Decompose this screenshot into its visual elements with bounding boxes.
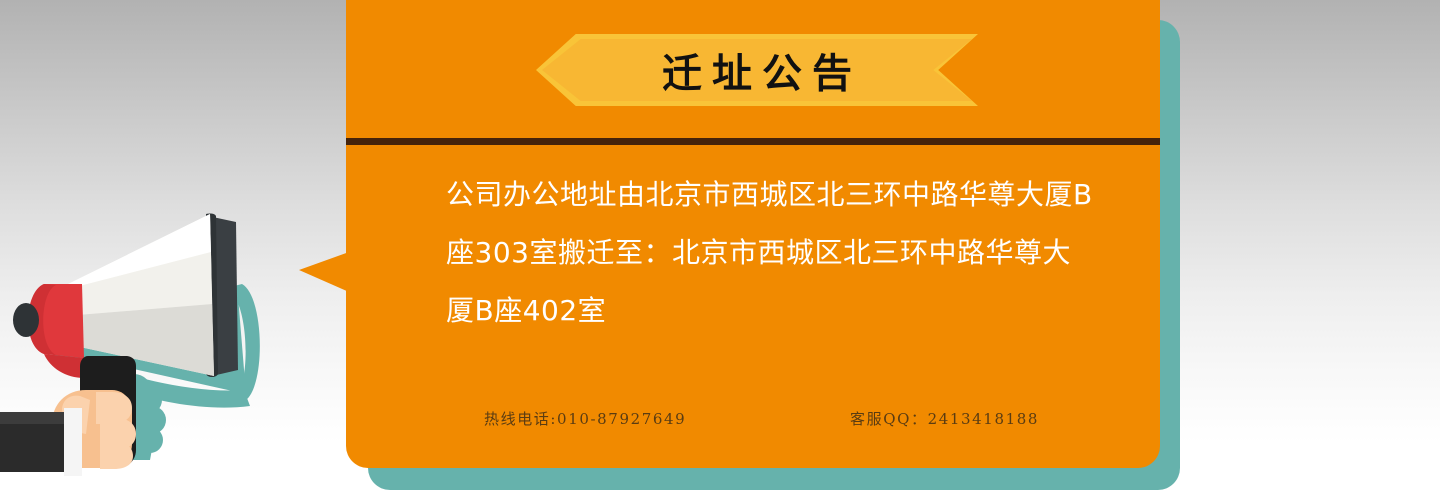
announcement-body: 公司办公地址由北京市西城区北三环中路华尊大厦B座303室搬迁至：北京市西城区北三… [446, 166, 1096, 340]
page-title: 迁址公告 [536, 34, 978, 106]
contact-footer: 热线电话:010-87927649 客服QQ：2413418188 [446, 408, 1106, 434]
megaphone-mouthpiece [13, 284, 84, 378]
suit-sleeve [0, 408, 82, 476]
hotline-text: 热线电话:010-87927649 [484, 408, 686, 429]
announcement-banner-canvas: 迁址公告 公司办公地址由北京市西城区北三环中路华尊大厦B座303室搬迁至：北京市… [0, 0, 1440, 492]
megaphone-illustration [0, 178, 330, 492]
customer-service-qq-text: 客服QQ：2413418188 [850, 408, 1039, 429]
header-divider [346, 138, 1160, 145]
title-ribbon: 迁址公告 [536, 34, 978, 106]
